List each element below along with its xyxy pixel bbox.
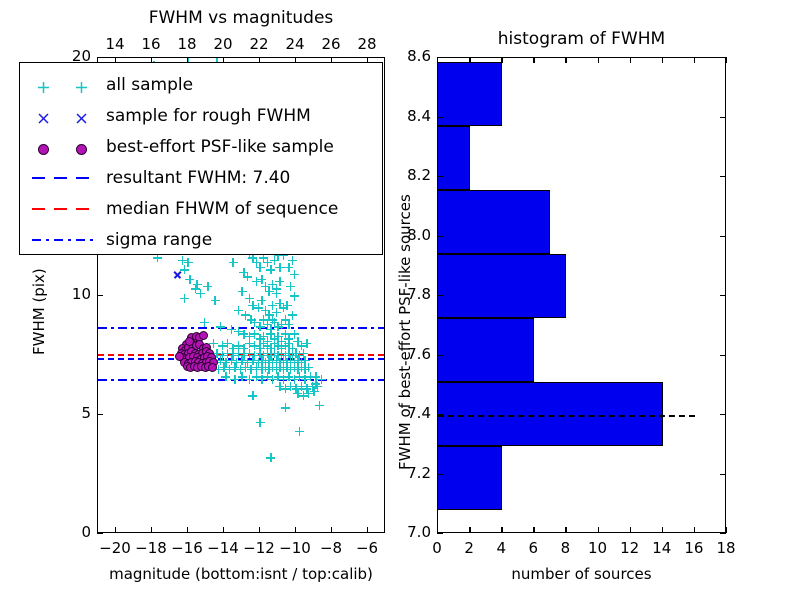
legend-item-best-effort-psf-like-sample[interactable]: best-effort PSF-like sample — [20, 131, 382, 162]
histogram-ytick — [437, 295, 443, 296]
histogram-xtick — [469, 527, 470, 533]
histogram-xtick — [533, 527, 534, 533]
legend-item-sample-for-rough-fwhm[interactable]: sample for rough FWHM — [20, 100, 382, 131]
legend-item-label: best-effort PSF-like sample — [106, 137, 334, 157]
histogram-ytick-right — [720, 474, 726, 475]
histogram-ytick-right — [720, 117, 726, 118]
scatter-xticklabel-bottom: −6 — [349, 539, 385, 557]
histogram-ytick — [437, 355, 443, 356]
histogram-xtick-top — [533, 57, 534, 63]
scatter-xtick-bottom — [223, 527, 224, 533]
histogram-xlabel: number of sources — [437, 565, 726, 583]
scatter-xtick-bottom — [151, 527, 152, 533]
histogram-xticklabel: 12 — [614, 539, 646, 557]
histogram-ytick-right — [720, 355, 726, 356]
scatter-point-psf-sample — [208, 363, 217, 372]
histogram-ytick — [437, 57, 443, 58]
histogram-bar — [437, 190, 550, 254]
histogram-xtick — [630, 527, 631, 533]
histogram-xtick — [694, 527, 695, 533]
histogram-xtick-top — [469, 57, 470, 63]
scatter-xticklabel-top: 18 — [171, 35, 203, 53]
legend-item-sigma-range[interactable]: sigma range — [20, 224, 382, 255]
scatter-yticklabel: 10 — [57, 285, 91, 303]
histogram-xticklabel: 16 — [678, 539, 710, 557]
scatter-xticklabel-bottom: −10 — [277, 539, 313, 557]
circle-marker — [75, 141, 88, 160]
histogram-ytick — [437, 236, 443, 237]
legend-box: all samplesample for rough FWHMbest-effo… — [19, 62, 383, 255]
legend-marker-circle-marker — [20, 131, 106, 162]
scatter-xticklabel-top: 24 — [279, 35, 311, 53]
scatter-ylabel: FWHM (pix) — [30, 268, 48, 355]
scatter-xticklabel-top: 20 — [207, 35, 239, 53]
scatter-xtick-bottom — [295, 527, 296, 533]
scatter-xticklabel-bottom: −12 — [241, 539, 277, 557]
scatter-xticklabel-bottom: −8 — [313, 539, 349, 557]
histogram-xtick-top — [694, 57, 695, 63]
line-sample-dashdot-line — [32, 239, 94, 241]
histogram-ylabel: FWHM of best-effort PSF-like sources — [396, 194, 414, 470]
histogram-xticklabel: 6 — [517, 539, 549, 557]
legend-item-resultant-fwhm-7-40[interactable]: resultant FWHM: 7.40 — [20, 162, 382, 193]
scatter-xtick-bottom — [331, 527, 332, 533]
scatter-xticklabel-bottom: −16 — [169, 539, 205, 557]
cross-marker — [37, 110, 50, 129]
scatter-xticklabel-top: 16 — [135, 35, 167, 53]
plus-marker — [75, 79, 88, 98]
scatter-yticklabel: 5 — [57, 404, 91, 422]
scatter-xlabel: magnitude (bottom:isnt / top:calib) — [47, 565, 435, 583]
scatter-xticklabel-bottom: −14 — [205, 539, 241, 557]
histogram-xtick-top — [662, 57, 663, 63]
legend-marker-dashed-line — [20, 162, 106, 193]
histogram-bar — [437, 126, 470, 190]
histogram-ytick-right — [720, 176, 726, 177]
scatter-ytick — [97, 414, 103, 415]
histogram-ytick — [437, 474, 443, 475]
histogram-yticklabel: 8.6 — [389, 47, 431, 65]
histogram-xticklabel: 0 — [421, 539, 453, 557]
scatter-xticklabel-top: 22 — [243, 35, 275, 53]
legend-item-label: all sample — [106, 75, 193, 95]
line-sample-dashed-line — [32, 208, 94, 210]
histogram-ytick-right — [720, 414, 726, 415]
legend-item-median-fhwm-of-sequence[interactable]: median FHWM of sequence — [20, 193, 382, 224]
histogram-bar — [437, 254, 566, 318]
scatter-yticklabel: 0 — [57, 523, 91, 541]
scatter-ytick — [97, 533, 103, 534]
histogram-xticklabel: 2 — [453, 539, 485, 557]
scatter-title: FWHM vs magnitudes — [97, 8, 385, 28]
legend-item-label: sigma range — [106, 230, 212, 250]
histogram-xtick — [565, 527, 566, 533]
histogram-bar — [437, 318, 534, 382]
histogram-ytick-right — [720, 236, 726, 237]
histogram-bar — [437, 62, 502, 126]
scatter-ref-line-sigma-range-upper — [98, 327, 384, 329]
legend-marker-cross-marker — [20, 100, 106, 131]
legend-item-label: resultant FWHM: 7.40 — [106, 168, 290, 188]
scatter-xticklabel-top: 28 — [351, 35, 383, 53]
figure-canvas: −20−18−16−14−12−10−8−6141618202224262805… — [0, 0, 800, 600]
histogram-xticklabel: 14 — [646, 539, 678, 557]
cross-marker — [75, 110, 88, 129]
line-sample-dashed-line — [32, 177, 94, 179]
histogram-ytick — [437, 176, 443, 177]
scatter-xtick-bottom — [259, 527, 260, 533]
histogram-xtick — [598, 527, 599, 533]
histogram-xtick — [726, 527, 727, 533]
scatter-ytick — [97, 57, 103, 58]
histogram-xticklabel: 18 — [710, 539, 742, 557]
histogram-ytick-right — [720, 533, 726, 534]
histogram-xtick-top — [726, 57, 727, 63]
scatter-point-psf-sample — [199, 331, 208, 340]
scatter-xticklabel-top: 26 — [315, 35, 347, 53]
histogram-ytick — [437, 533, 443, 534]
legend-item-label: sample for rough FWHM — [106, 106, 311, 126]
histogram-ytick — [437, 117, 443, 118]
scatter-xticklabel-bottom: −18 — [133, 539, 169, 557]
scatter-xticklabel-bottom: −20 — [97, 539, 133, 557]
scatter-xtick-bottom — [367, 527, 368, 533]
histogram-ytick-right — [720, 295, 726, 296]
histogram-yticklabel: 8.4 — [389, 107, 431, 125]
legend-item-all-sample[interactable]: all sample — [20, 69, 382, 100]
histogram-plot-area — [437, 57, 726, 533]
histogram-bar — [437, 446, 502, 510]
scatter-xticklabel-top: 14 — [99, 35, 131, 53]
histogram-xtick-top — [598, 57, 599, 63]
histogram-xtick-top — [565, 57, 566, 63]
histogram-title: histogram of FWHM — [437, 29, 726, 49]
histogram-yticklabel: 8.2 — [389, 166, 431, 184]
scatter-ytick — [97, 295, 103, 296]
histogram-xticklabel: 8 — [549, 539, 581, 557]
histogram-xtick — [662, 527, 663, 533]
histogram-ref-line-resultant-fwhm — [438, 415, 695, 417]
legend-item-label: median FHWM of sequence — [106, 199, 338, 219]
histogram-xtick-top — [630, 57, 631, 63]
histogram-xticklabel: 4 — [485, 539, 517, 557]
scatter-point-psf-sample — [185, 337, 194, 346]
histogram-xtick — [501, 527, 502, 533]
plus-marker — [37, 79, 50, 98]
histogram-yticklabel: 7.0 — [389, 523, 431, 541]
histogram-xticklabel: 10 — [582, 539, 614, 557]
legend-marker-dashed-line — [20, 193, 106, 224]
legend-marker-dashdot-line — [20, 224, 106, 255]
scatter-xtick-bottom — [187, 527, 188, 533]
circle-marker — [37, 141, 50, 160]
scatter-xtick-bottom — [115, 527, 116, 533]
legend-marker-plus-marker — [20, 69, 106, 100]
histogram-xtick-top — [501, 57, 502, 63]
histogram-ytick-right — [720, 57, 726, 58]
